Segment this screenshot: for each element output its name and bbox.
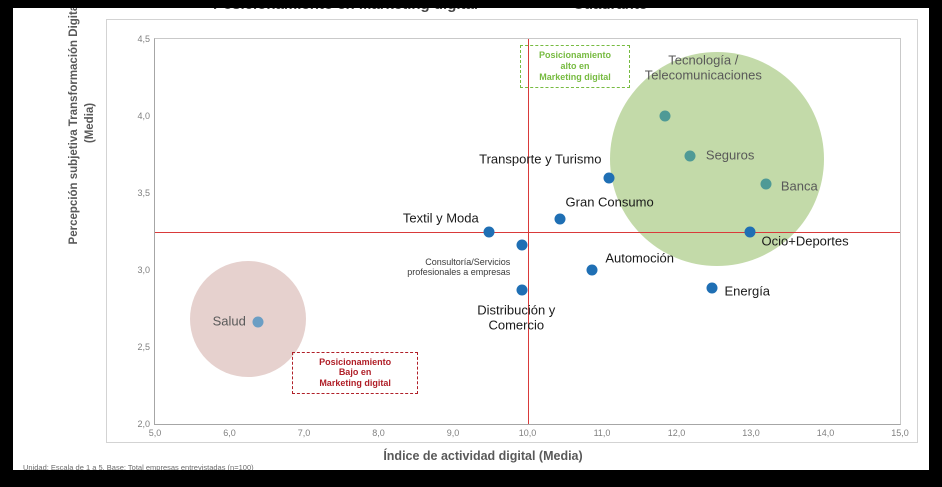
x-axis-tick: 15,0 <box>891 428 909 438</box>
x-axis-tick: 10,0 <box>519 428 537 438</box>
y-axis-title: Percepción subjetiva Transformación Digi… <box>63 8 103 253</box>
data-point[interactable] <box>517 285 528 296</box>
y-axis-tick: 3,5 <box>137 188 150 198</box>
chart-footnote: Unidad: Escala de 1 a 5. Base: Total emp… <box>23 463 583 470</box>
data-point-label: Distribución y Comercio <box>477 303 555 332</box>
y-axis-tick: 3,0 <box>137 265 150 275</box>
slide-frame: Posicionamiento en Marketing digital Cua… <box>0 0 942 487</box>
data-point[interactable] <box>483 226 494 237</box>
x-axis-tick: 14,0 <box>817 428 835 438</box>
data-point[interactable] <box>587 265 598 276</box>
data-point-label: Salud <box>213 315 246 330</box>
slide-title-clipped: Posicionamiento en Marketing digital Cua… <box>13 8 929 14</box>
data-point-label: Seguros <box>706 149 754 164</box>
data-point-label: Ocio+Deportes <box>762 234 849 249</box>
data-point-label: Gran Consumo <box>566 196 654 211</box>
slide-title-right: Cuadrante <box>573 8 647 13</box>
plot-area: 2,02,53,03,54,04,55,06,07,08,09,010,011,… <box>154 38 901 425</box>
data-point-label: Energía <box>725 285 771 300</box>
data-point-label: Transporte y Turismo <box>479 152 601 167</box>
callout-low: Posicionamiento Bajo en Marketing digita… <box>292 352 418 394</box>
x-axis-tick: 6,0 <box>223 428 236 438</box>
y-axis-tick: 4,0 <box>137 111 150 121</box>
data-point[interactable] <box>706 283 717 294</box>
data-point-label: Consultoría/Servicios profesionales a em… <box>407 257 510 277</box>
y-axis-tick: 4,5 <box>137 34 150 44</box>
vertical-reference-line <box>528 39 529 424</box>
x-axis-tick: 13,0 <box>742 428 760 438</box>
y-axis-tick: 2,5 <box>137 342 150 352</box>
data-point[interactable] <box>660 111 671 122</box>
slide-title-left: Posicionamiento en Marketing digital <box>213 8 478 13</box>
data-point-label: Tecnología / Telecomunicaciones <box>645 53 762 82</box>
x-axis-tick: 5,0 <box>149 428 162 438</box>
callout-high: Posicionamiento alto en Marketing digita… <box>520 45 630 87</box>
low-performers-bubble <box>190 261 306 377</box>
data-point-label: Banca <box>781 179 818 194</box>
chart-container: 2,02,53,03,54,04,55,06,07,08,09,010,011,… <box>106 19 918 443</box>
x-axis-tick: 11,0 <box>594 428 611 438</box>
x-axis-tick: 12,0 <box>668 428 686 438</box>
x-axis-tick: 7,0 <box>298 428 311 438</box>
x-axis-tick: 9,0 <box>447 428 460 438</box>
data-point-label: Automoción <box>605 252 674 267</box>
data-point[interactable] <box>684 151 695 162</box>
data-point[interactable] <box>744 226 755 237</box>
x-axis-title: Índice de actividad digital (Media) <box>263 449 703 463</box>
data-point[interactable] <box>554 214 565 225</box>
data-point[interactable] <box>517 240 528 251</box>
data-point-label: Textil y Moda <box>403 211 479 226</box>
data-point[interactable] <box>252 317 263 328</box>
slide-page: Posicionamiento en Marketing digital Cua… <box>13 8 929 470</box>
data-point[interactable] <box>760 178 771 189</box>
x-axis-tick: 8,0 <box>372 428 385 438</box>
data-point[interactable] <box>604 172 615 183</box>
